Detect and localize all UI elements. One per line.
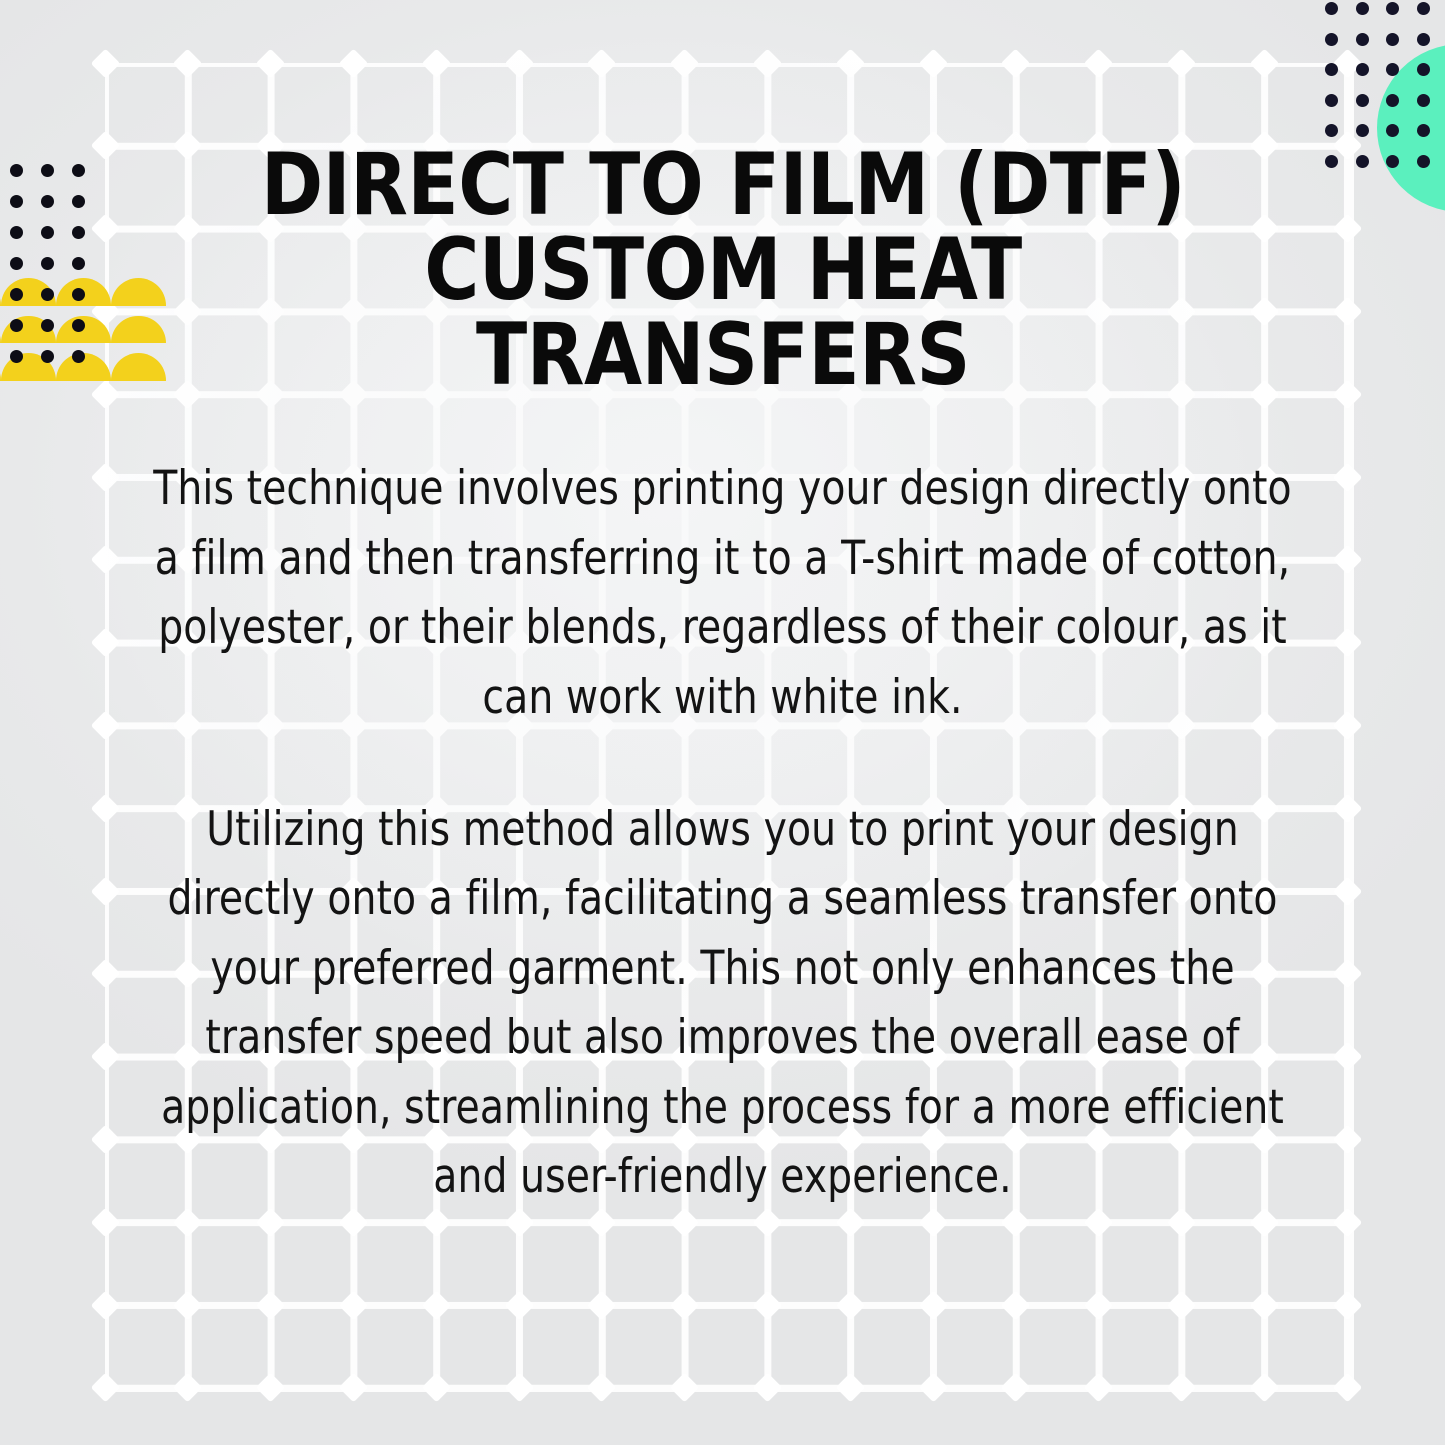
- page-title: DIRECT TO FILM (DTF) CUSTOM HEAT TRANSFE…: [228, 143, 1217, 398]
- content-area: DIRECT TO FILM (DTF) CUSTOM HEAT TRANSFE…: [0, 0, 1445, 1445]
- poster-canvas: DIRECT TO FILM (DTF) CUSTOM HEAT TRANSFE…: [0, 0, 1445, 1445]
- body-text-block: This technique involves printing your de…: [95, 454, 1350, 1211]
- paragraph-2: Utilizing this method allows you to prin…: [139, 795, 1306, 1212]
- paragraph-1: This technique involves printing your de…: [139, 454, 1306, 732]
